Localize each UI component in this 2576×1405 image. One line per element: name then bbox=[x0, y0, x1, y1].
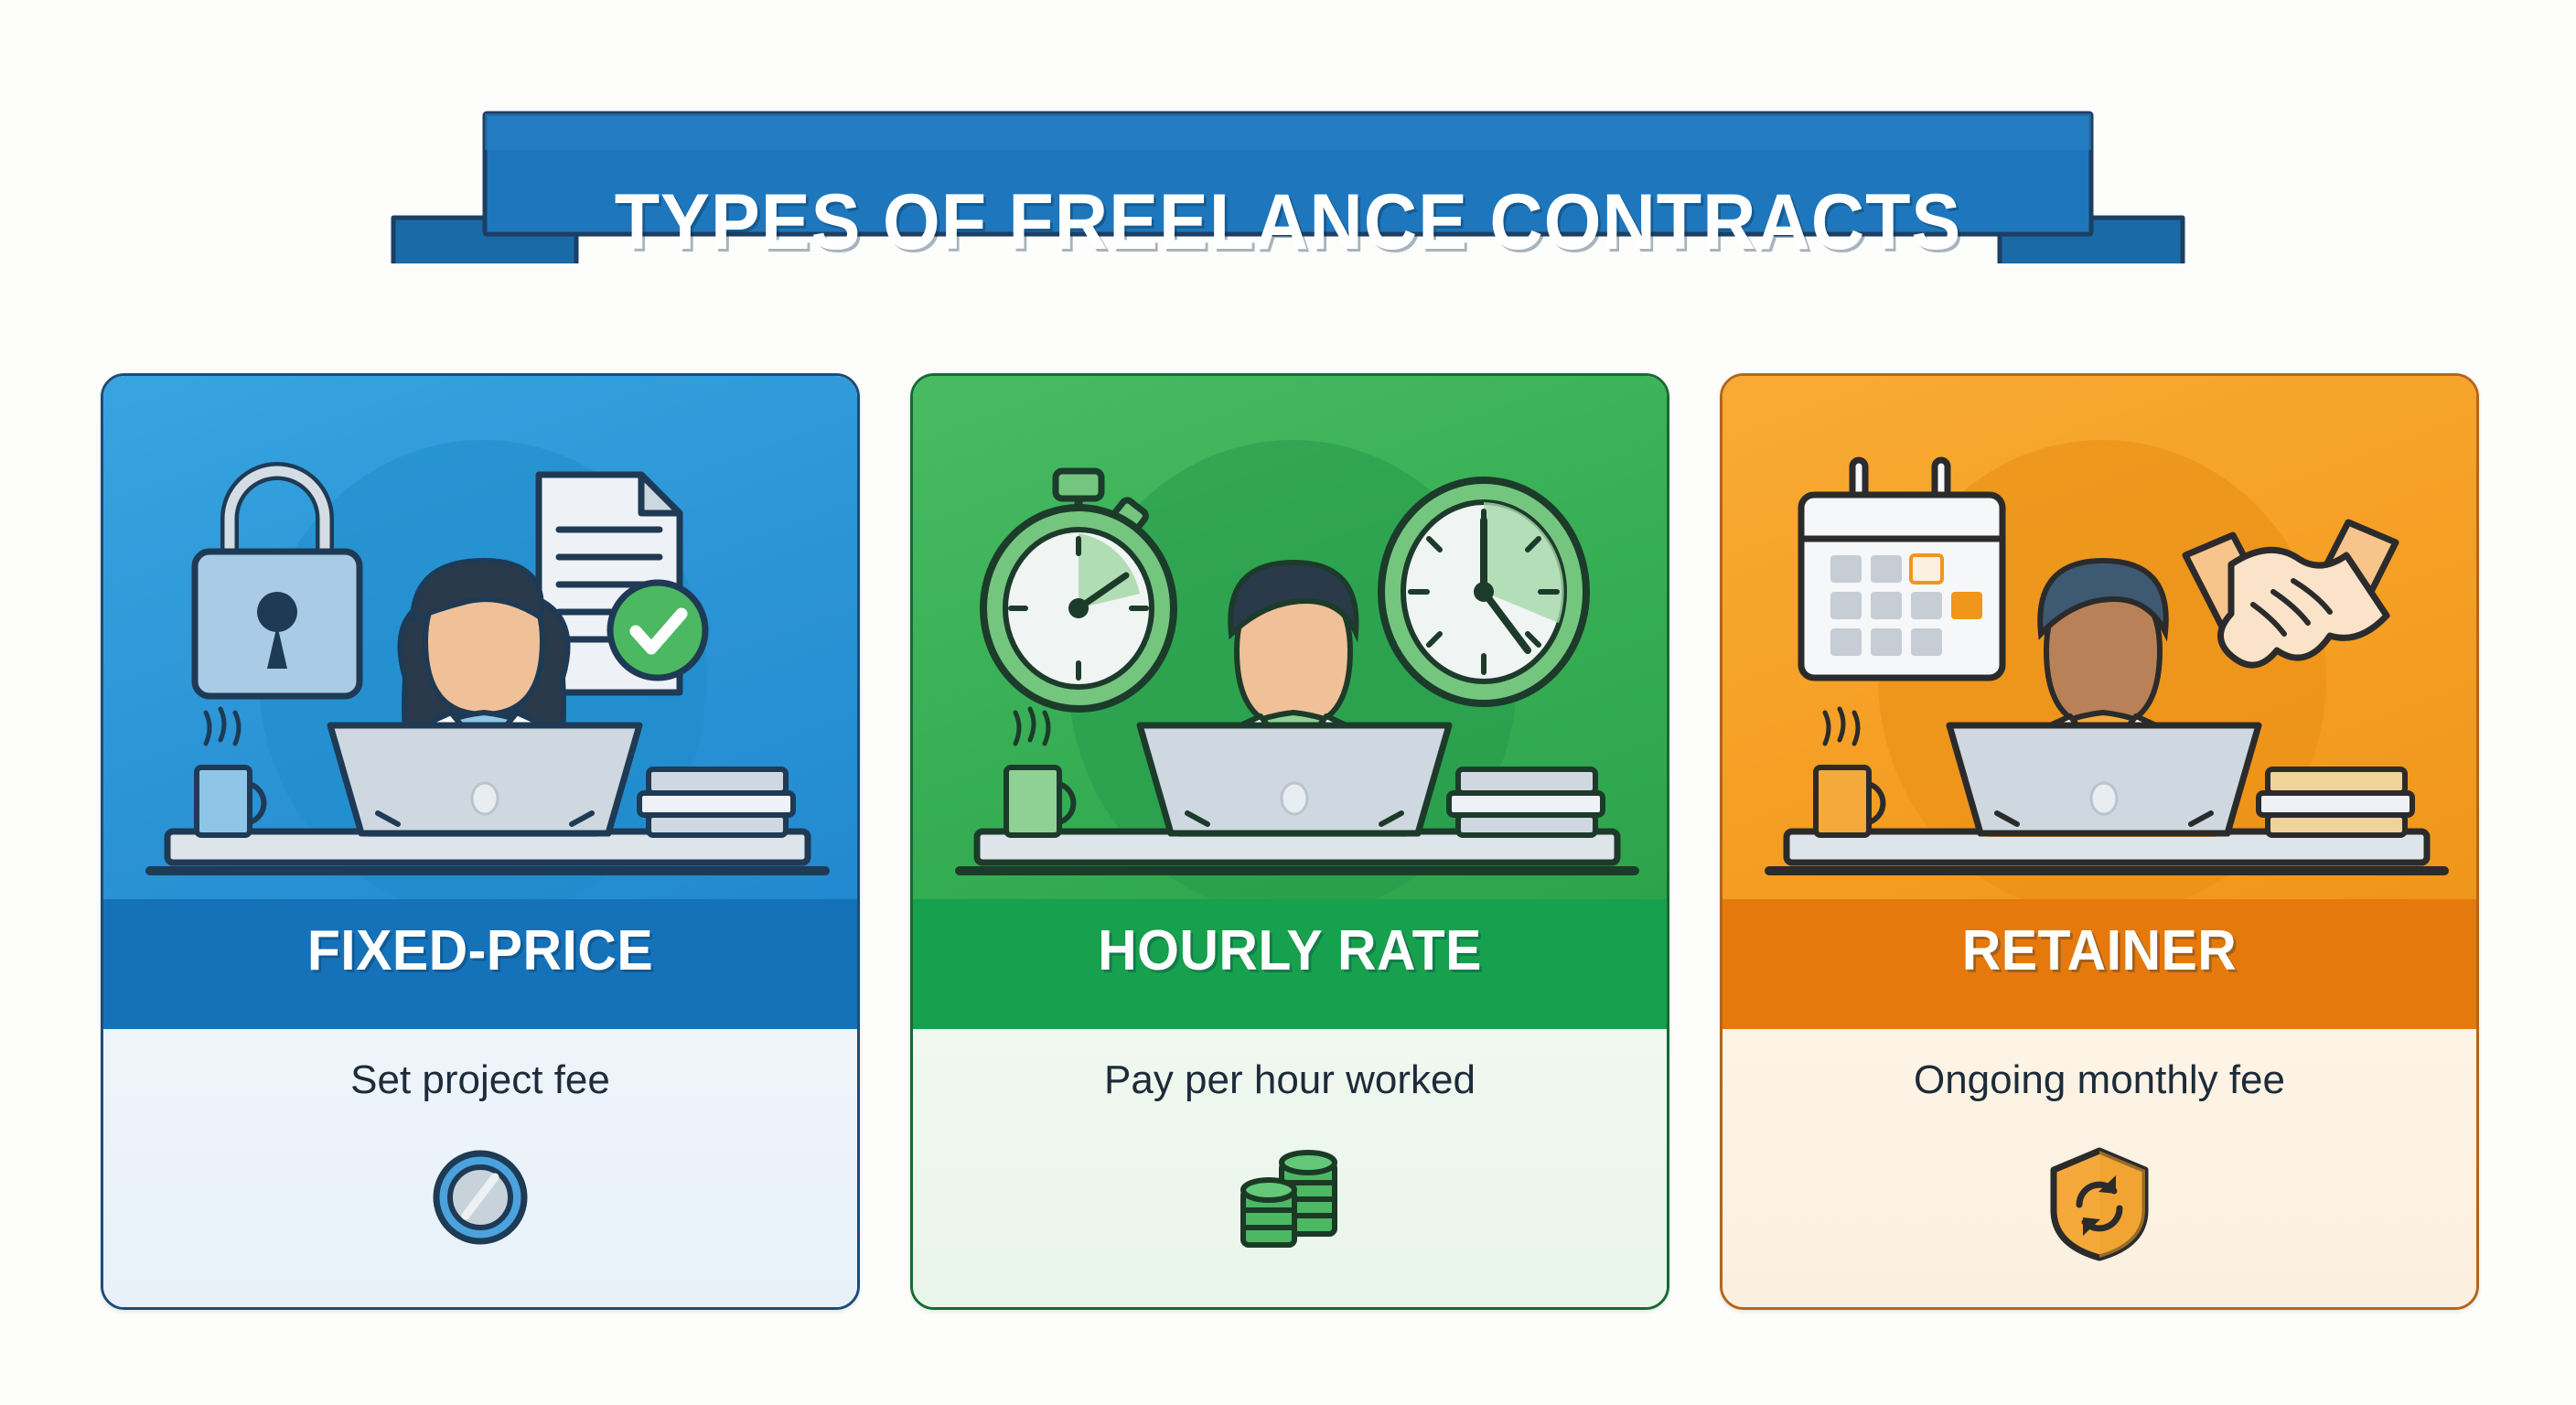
card-caption-retainer: Ongoing monthly fee bbox=[1723, 1060, 2476, 1100]
book-stack-icon bbox=[639, 769, 793, 835]
book-stack-icon bbox=[2259, 769, 2412, 835]
calendar-icon bbox=[1801, 460, 2002, 678]
illustration-retainer bbox=[1723, 376, 2476, 899]
caption-retainer: Ongoing monthly fee bbox=[1723, 1029, 2476, 1310]
band-fixed-price: FIXED-PRICE bbox=[103, 899, 857, 1029]
illustration-hourly-rate bbox=[913, 376, 1667, 899]
title-ribbon: TYPES OF FREELANCE CONTRACTS bbox=[0, 88, 2576, 263]
illustration-fixed-price bbox=[103, 376, 857, 899]
card-title-hourly-rate: HOURLY RATE bbox=[932, 923, 1648, 980]
coin-icon bbox=[429, 1146, 531, 1249]
coin-stack-icon bbox=[1230, 1146, 1349, 1254]
page-title: TYPES OF FREELANCE CONTRACTS bbox=[77, 183, 2498, 262]
card-caption-fixed-price: Set project fee bbox=[103, 1060, 857, 1100]
coffee-mug-icon bbox=[197, 709, 263, 835]
card-title-fixed-price: FIXED-PRICE bbox=[123, 923, 839, 980]
card-fixed-price[interactable]: FIXED-PRICE Set project fee bbox=[101, 373, 860, 1310]
card-hourly-rate[interactable]: HOURLY RATE Pay per hour worked bbox=[910, 373, 1669, 1310]
card-title-retainer: RETAINER bbox=[1742, 923, 2458, 980]
coffee-mug-icon bbox=[1816, 709, 1883, 835]
desk-icon bbox=[1765, 831, 2449, 875]
desk-icon bbox=[955, 831, 1639, 875]
coffee-mug-icon bbox=[1006, 709, 1073, 835]
wall-clock-icon bbox=[1381, 480, 1586, 703]
band-hourly-rate: HOURLY RATE bbox=[913, 899, 1667, 1029]
band-retainer: RETAINER bbox=[1723, 899, 2476, 1029]
book-stack-icon bbox=[1449, 769, 1603, 835]
caption-fixed-price: Set project fee bbox=[103, 1029, 857, 1310]
shield-refresh-icon bbox=[2046, 1146, 2152, 1261]
card-caption-hourly-rate: Pay per hour worked bbox=[913, 1060, 1667, 1100]
desk-icon bbox=[145, 831, 830, 875]
card-retainer[interactable]: RETAINER Ongoing monthly fee bbox=[1720, 373, 2479, 1310]
caption-hourly-rate: Pay per hour worked bbox=[913, 1029, 1667, 1310]
